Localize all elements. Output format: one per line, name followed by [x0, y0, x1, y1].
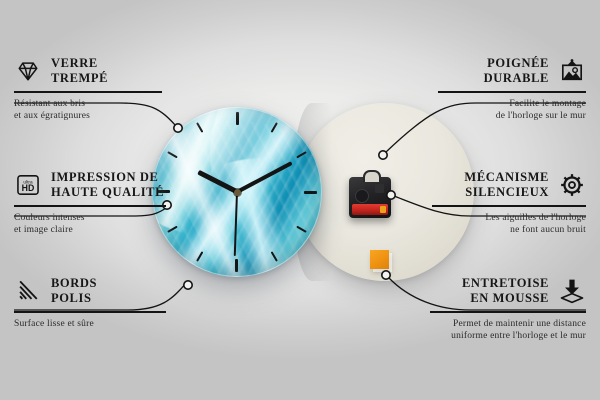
feature-sub-line1: Couleurs intenses — [14, 213, 85, 223]
feature-title-line1: VERRE — [51, 56, 98, 70]
feature-sub-line1: Permet de maintenir une distance — [453, 319, 586, 329]
polished-edge-icon — [14, 277, 42, 305]
feature-divider — [14, 91, 162, 93]
feature-impression-haute-qualite: ultra HD IMPRESSION DE HAUTE QUALITÉ Cou… — [14, 170, 166, 236]
feature-title-line1: MÉCANISME — [464, 170, 549, 184]
feature-sub-line2: de l'horloge sur le mur — [496, 111, 586, 121]
feature-entretoise-en-mousse: ENTRETOISE EN MOUSSE Permet de maintenir… — [430, 276, 586, 342]
feature-title-line2: SILENCIEUX — [465, 185, 549, 199]
picture-hanger-icon — [558, 57, 586, 85]
feature-title-line2: TREMPÉ — [51, 71, 108, 85]
feature-divider — [430, 311, 586, 313]
feature-title-line1: BORDS — [51, 276, 97, 290]
feature-divider — [14, 311, 166, 313]
clock-glass-rim — [152, 107, 322, 277]
feature-title-line1: POIGNÉE — [487, 56, 549, 70]
hanger-loop-icon — [363, 170, 381, 182]
clock-movement — [349, 177, 391, 218]
feature-sub-line1: Surface lisse et sûre — [14, 319, 94, 329]
feature-title-line2: EN MOUSSE — [470, 291, 549, 305]
feature-sub-line2: uniforme entre l'horloge et le mur — [451, 331, 586, 341]
feature-sub-line1: Facilite le montage — [509, 99, 586, 109]
feature-title-line2: POLIS — [51, 291, 92, 305]
diamond-icon — [14, 57, 42, 85]
gear-icon — [558, 171, 586, 199]
feature-sub-line1: Les aiguilles de l'horloge — [485, 213, 586, 223]
feature-sub-line1: Résistant aux bris — [14, 99, 85, 109]
svg-text:HD: HD — [22, 183, 35, 193]
clock-face — [152, 107, 322, 277]
battery — [352, 204, 388, 215]
feature-bords-polis: BORDS POLIS Surface lisse et sûre — [14, 276, 166, 330]
feature-sub-line2: et aux égratignures — [14, 111, 90, 121]
feature-title-line1: IMPRESSION DE — [51, 170, 158, 184]
feature-sub-line2: ne font aucun bruit — [510, 225, 586, 235]
feature-verre-trempe: VERRE TREMPÉ Résistant aux bris et aux é… — [14, 56, 162, 122]
foam-spacer-icon — [558, 277, 586, 305]
feature-poignee-durable: POIGNÉE DURABLE Facilite le montage de l… — [438, 56, 586, 122]
feature-title-line2: HAUTE QUALITÉ — [51, 185, 164, 199]
feature-title-line1: ENTRETOISE — [462, 276, 549, 290]
feature-mecanisme-silencieux: MÉCANISME SILENCIEUX — [432, 170, 586, 236]
feature-divider — [14, 205, 166, 207]
movement-dial — [355, 189, 369, 203]
infographic-canvas: VERRE TREMPÉ Résistant aux bris et aux é… — [0, 0, 600, 400]
feature-sub-line2: et image claire — [14, 225, 73, 235]
foam-spacer — [370, 250, 389, 269]
movement-switch — [375, 184, 384, 193]
ultra-hd-icon: ultra HD — [14, 171, 42, 199]
feature-divider — [432, 205, 586, 207]
feature-divider — [438, 91, 586, 93]
feature-title-line2: DURABLE — [484, 71, 549, 85]
